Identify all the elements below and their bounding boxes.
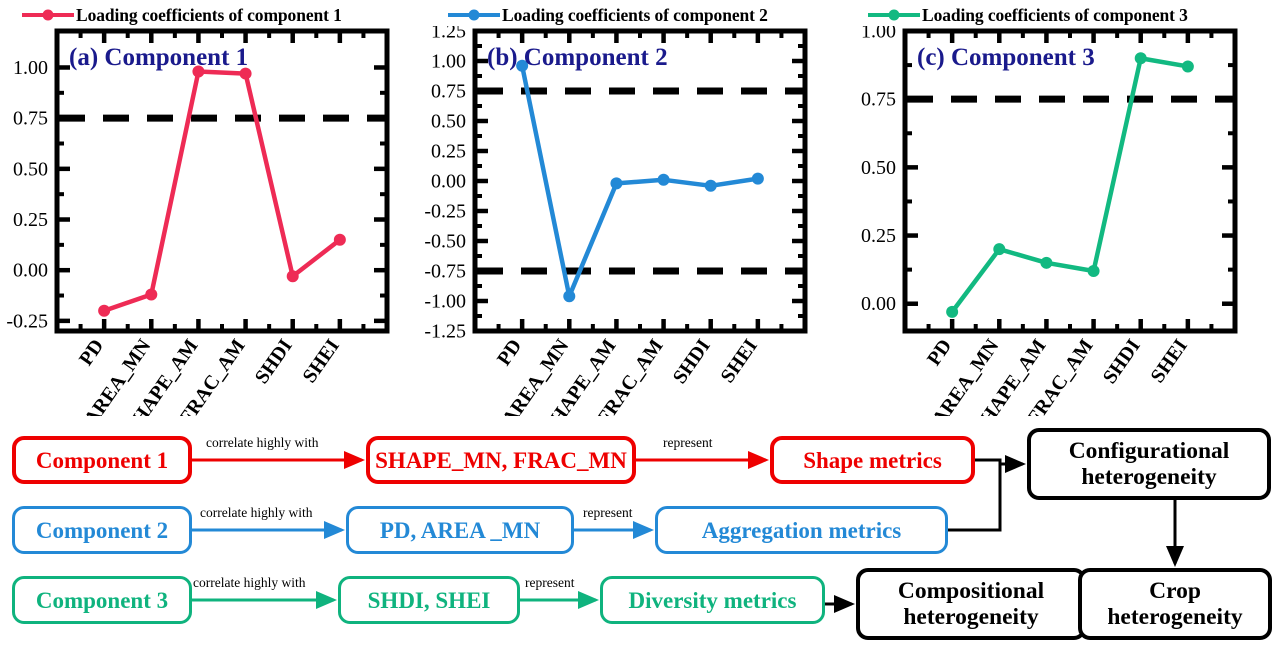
y-axis-tick-label: 1.25 [431, 26, 466, 43]
line-marker-icon [448, 13, 500, 17]
x-axis-tick-label: PD [493, 335, 526, 369]
node-label: SHDI, SHEI [368, 589, 491, 612]
legend-component-3: Loading coefficients of component 3 [868, 2, 1188, 28]
chart-component-3: 0.000.250.500.751.00(c) Component 3PDARE… [848, 26, 1248, 416]
chart-component-2: -1.25-1.00-0.75-0.50-0.250.000.250.500.7… [418, 26, 818, 416]
y-axis-tick-label: 1.00 [861, 26, 896, 43]
y-axis-tick-label: 0.75 [431, 81, 466, 103]
edge-label-correlate-1: correlate highly with [206, 435, 318, 451]
y-axis-tick-label: -0.50 [424, 231, 466, 253]
y-axis-tick-label: 0.25 [861, 225, 896, 247]
y-axis-tick-label: 0.50 [431, 111, 466, 133]
x-axis-tick-label: SHEI [1147, 335, 1193, 387]
data-point-marker [98, 305, 110, 317]
legend-label: Loading coefficients of component 3 [922, 5, 1188, 26]
chart-svg: 0.000.250.500.751.00(c) Component 3PDARE… [848, 26, 1248, 416]
flow-connector [975, 460, 1000, 464]
x-axis-tick-label-group: SHDI [669, 335, 715, 388]
x-axis-tick-label: SHDI [251, 335, 297, 388]
y-axis-tick-label: 1.00 [13, 57, 48, 79]
node-component-1[interactable]: Component 1 [12, 436, 192, 484]
edge-label-represent-1: represent [663, 435, 712, 451]
edge-label-correlate-2: correlate highly with [200, 505, 312, 521]
panel-component-3: Loading coefficients of component 3 0.00… [848, 0, 1280, 420]
legend-label: Loading coefficients of component 1 [76, 5, 342, 26]
node-label: Diversity metrics [629, 589, 797, 612]
y-axis-tick-label: 0.25 [431, 141, 466, 163]
panel-title: (b) Component 2 [487, 44, 668, 71]
legend-component-1: Loading coefficients of component 1 [22, 2, 342, 28]
x-axis-tick-label-group: PD [923, 335, 956, 369]
node-label: Aggregation metrics [702, 519, 902, 542]
node-component-3[interactable]: Component 3 [12, 576, 192, 624]
x-axis-tick-label-group: PD [75, 335, 108, 369]
series-line [104, 72, 340, 311]
node-label: Crop heterogeneity [1088, 578, 1262, 631]
y-axis-tick-label: 0.50 [13, 158, 48, 180]
node-shape-metrics[interactable]: Shape metrics [770, 436, 975, 484]
data-point-marker [563, 290, 575, 302]
x-axis-tick-label: SHDI [1099, 335, 1145, 388]
edge-label-correlate-3: correlate highly with [193, 575, 305, 591]
line-marker-icon [868, 13, 920, 17]
panel-component-2: Loading coefficients of component 2 -1.2… [418, 0, 858, 420]
x-axis-tick-label: PD [75, 335, 108, 369]
x-axis-tick-label: SHEI [717, 335, 763, 387]
y-axis-tick-label: -0.75 [424, 261, 466, 283]
y-axis-tick-label: 0.00 [431, 171, 466, 193]
data-point-marker [145, 289, 157, 301]
edge-label-represent-2: represent [583, 505, 632, 521]
series-line [522, 66, 758, 296]
node-diversity-metrics[interactable]: Diversity metrics [600, 576, 825, 624]
y-axis-tick-label: 0.75 [861, 89, 896, 111]
data-point-marker [1088, 265, 1100, 277]
edge-label-represent-3: represent [525, 575, 574, 591]
data-point-marker [993, 243, 1005, 255]
data-point-marker [1182, 60, 1194, 72]
y-axis-tick-label: 0.50 [861, 157, 896, 179]
y-axis-tick-label: 0.25 [13, 209, 48, 231]
y-axis-tick-label: 1.00 [431, 51, 466, 73]
line-marker-icon [22, 13, 74, 17]
data-point-marker [946, 306, 958, 318]
node-metrics-1[interactable]: SHAPE_MN, FRAC_MN [366, 436, 636, 484]
node-component-2[interactable]: Component 2 [12, 506, 192, 554]
x-axis-tick-label-group: SHDI [251, 335, 297, 388]
x-axis-tick-label-group: SHEI [717, 335, 763, 387]
node-label: PD, AREA _MN [380, 519, 540, 542]
x-axis-tick-label-group: SHDI [1099, 335, 1145, 388]
node-label: SHAPE_MN, FRAC_MN [375, 449, 627, 472]
node-label: Compositional heterogeneity [866, 578, 1076, 631]
y-axis-tick-label: 0.75 [13, 108, 48, 130]
node-label: Component 3 [36, 589, 168, 612]
y-axis-tick-label: -1.00 [424, 291, 466, 313]
data-point-marker [752, 173, 764, 185]
legend-label: Loading coefficients of component 2 [502, 5, 768, 26]
panel-component-1: Loading coefficients of component 1 -0.2… [0, 0, 430, 420]
node-metrics-3[interactable]: SHDI, SHEI [338, 576, 520, 624]
chart-svg: -1.25-1.00-0.75-0.50-0.250.000.250.500.7… [418, 26, 818, 416]
data-point-marker [1135, 52, 1147, 64]
node-label: Shape metrics [803, 449, 942, 472]
node-compositional-heterogeneity[interactable]: Compositional heterogeneity [856, 568, 1086, 640]
x-axis-tick-label: SHEI [299, 335, 345, 387]
data-point-marker [287, 270, 299, 282]
x-axis-tick-label-group: SHEI [1147, 335, 1193, 387]
y-axis-tick-label: -0.25 [424, 201, 466, 223]
legend-component-2: Loading coefficients of component 2 [448, 2, 768, 28]
node-metrics-2[interactable]: PD, AREA _MN [346, 506, 574, 554]
data-point-marker [610, 177, 622, 189]
x-axis-tick-label-group: PD [493, 335, 526, 369]
data-point-marker [658, 174, 670, 186]
y-axis-tick-label: -1.25 [424, 321, 466, 343]
chart-svg: -0.250.000.250.500.751.00(a) Component 1… [0, 26, 400, 416]
data-point-marker [705, 180, 717, 192]
data-point-marker [1040, 257, 1052, 269]
y-axis-tick-label: 0.00 [861, 293, 896, 315]
y-axis-tick-label: -0.25 [6, 310, 48, 332]
node-label: Component 1 [36, 449, 168, 472]
node-crop-heterogeneity[interactable]: Crop heterogeneity [1078, 568, 1272, 640]
chart-component-1: -0.250.000.250.500.751.00(a) Component 1… [0, 26, 400, 416]
panel-title: (c) Component 3 [917, 44, 1095, 71]
node-configurational-heterogeneity[interactable]: Configurational heterogeneity [1027, 428, 1271, 500]
x-axis-tick-label-group: SHEI [299, 335, 345, 387]
node-label: Component 2 [36, 519, 168, 542]
x-axis-tick-label: PD [923, 335, 956, 369]
data-point-marker [334, 234, 346, 246]
flowchart: Component 1 SHAPE_MN, FRAC_MN Shape metr… [0, 420, 1280, 648]
x-axis-tick-label: SHDI [669, 335, 715, 388]
node-label: Configurational heterogeneity [1037, 438, 1261, 491]
node-aggregation-metrics[interactable]: Aggregation metrics [655, 506, 948, 554]
y-axis-tick-label: 0.00 [13, 260, 48, 282]
panel-title: (a) Component 1 [69, 44, 248, 71]
